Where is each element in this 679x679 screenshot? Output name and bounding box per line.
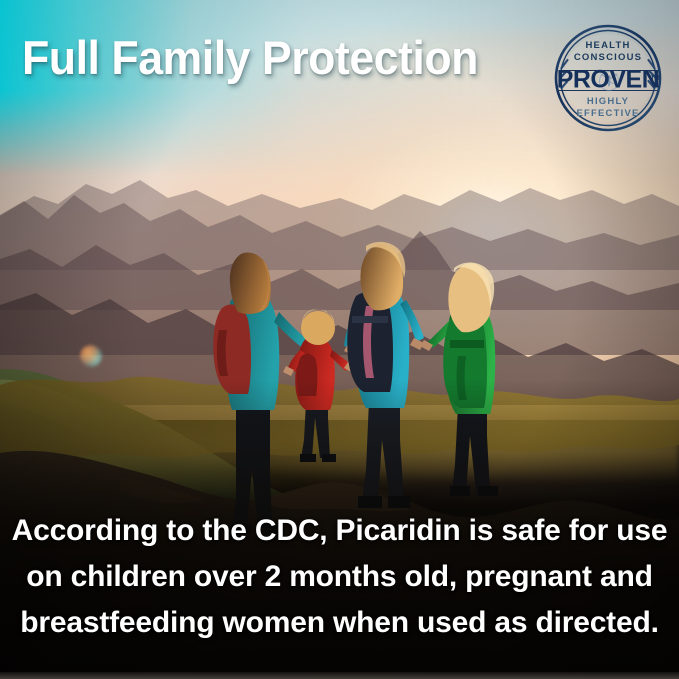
- badge-top-line-2: CONSCIOUS: [574, 52, 642, 63]
- proven-badge: PROVEN TM HEALTH CONSCIOUS HIGHLY EFFECT…: [554, 24, 662, 132]
- caption-line-1: According to the CDC, Picaridin is safe …: [0, 508, 679, 554]
- badge-bottom-line-1: HIGHLY: [587, 96, 629, 107]
- caption-line-2: on children over 2 months old, pregnant …: [0, 554, 679, 600]
- caption-block: According to the CDC, Picaridin is safe …: [0, 508, 679, 646]
- badge-trademark: TM: [651, 76, 660, 82]
- badge-top-line-1: HEALTH: [585, 40, 630, 51]
- page-title: Full Family Protection: [22, 34, 478, 81]
- caption-line-3: breastfeeding women when used as directe…: [0, 600, 679, 646]
- bottom-edge-strip: [0, 672, 679, 679]
- badge-main-word: PROVEN: [557, 66, 660, 94]
- badge-bottom-line-2: EFFECTIVE: [576, 108, 639, 119]
- promo-image: Full Family Protection: [0, 0, 679, 679]
